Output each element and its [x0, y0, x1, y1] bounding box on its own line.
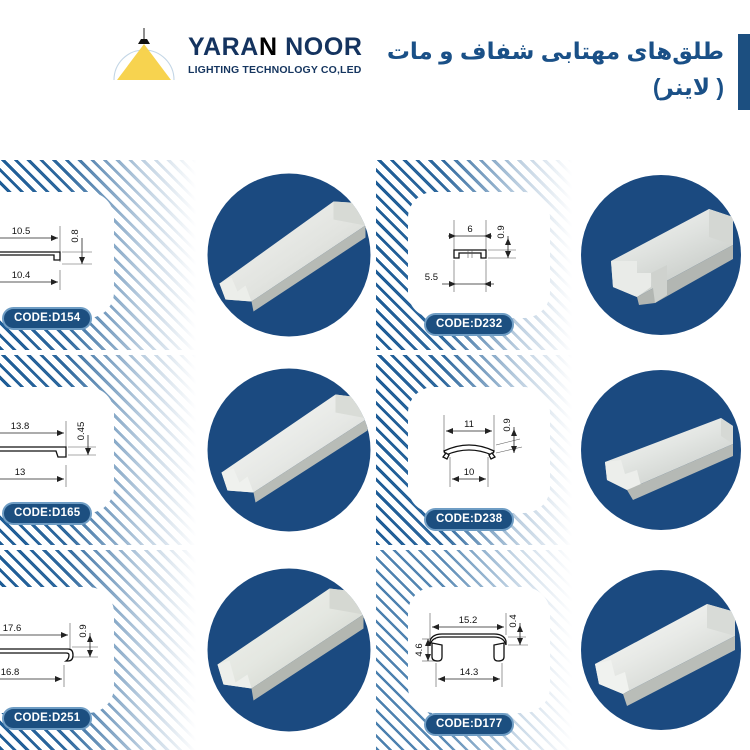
product-code-badge: CODE:D154	[2, 307, 92, 330]
product-code-badge: CODE:D238	[424, 508, 514, 531]
product-cell-d232[interactable]: 6 5.5 0.9 CODE:D232	[376, 160, 750, 350]
technical-drawing-card: 6 5.5 0.9	[408, 192, 550, 318]
product-photo-area	[196, 160, 374, 350]
dim-bottom-width: 10.4	[12, 270, 31, 281]
page-title-line1: طلق‌های مهتابی شفاف و مات	[387, 34, 724, 70]
product-grid: 10.5 10.4 0.8 CODE:D154	[0, 160, 750, 750]
product-code-badge: CODE:D177	[424, 713, 514, 736]
dim-bottom-width: 10	[464, 467, 475, 478]
page-header: YARAN NOOR LIGHTING TECHNOLOGY CO,LED طل…	[0, 0, 750, 160]
product-cell-d251[interactable]: 17.6 16.8 0.9 CODE:D251	[0, 550, 374, 750]
product-photo-circle	[207, 174, 370, 337]
dim-top-width: 17.6	[3, 623, 22, 634]
product-cell-d154[interactable]: 10.5 10.4 0.8 CODE:D154	[0, 160, 374, 350]
product-photo-circle	[207, 369, 370, 532]
dim-height: 0.9	[502, 418, 513, 431]
product-photo-area	[572, 160, 750, 350]
dim-height: 0.4	[508, 614, 519, 627]
dim-bottom-width: 16.8	[1, 667, 20, 678]
product-photo-circle	[581, 370, 741, 530]
product-code-badge: CODE:D232	[424, 313, 514, 336]
product-code-badge: CODE:D165	[2, 502, 92, 525]
dim-top-width: 15.2	[459, 615, 478, 626]
brand-name: YARAN NOOR	[188, 34, 363, 60]
product-photo-circle	[207, 569, 370, 732]
dim-bottom-width: 13	[15, 467, 26, 478]
product-photo-area	[196, 550, 374, 750]
pendant-lamp-icon	[108, 22, 180, 88]
page-title: طلق‌های مهتابی شفاف و مات ( لاینر)	[387, 34, 750, 110]
dim-bottom-width: 14.3	[460, 667, 479, 678]
product-photo-area	[572, 550, 750, 750]
technical-drawing-card: 17.6 16.8 0.9	[0, 587, 114, 713]
product-photo-circle	[581, 175, 741, 335]
dim-height: 0.8	[70, 229, 81, 242]
dim-height: 0.9	[78, 624, 89, 637]
dim-height: 0.9	[496, 225, 507, 238]
brand-logo: YARAN NOOR LIGHTING TECHNOLOGY CO,LED	[108, 22, 363, 88]
page-title-line2: ( لاینر)	[387, 70, 724, 106]
product-photo-area	[572, 355, 750, 545]
dim-top-width: 11	[464, 419, 474, 430]
dim-depth: 4.6	[414, 643, 425, 656]
product-cell-d165[interactable]: 13.8 13 0.45 CODE:D165	[0, 355, 374, 545]
product-cell-d177[interactable]: 15.2 14.3 0.4 4.6 COD	[376, 550, 750, 750]
dim-top-width: 10.5	[12, 226, 31, 237]
product-photo-area	[196, 355, 374, 545]
product-photo-circle	[581, 570, 741, 730]
brand-name-prefix: YARA	[188, 33, 259, 61]
product-code-badge: CODE:D251	[2, 707, 92, 730]
technical-drawing-card: 11 10 0.9	[408, 387, 550, 513]
dim-top-width: 6	[467, 224, 472, 235]
dim-height: 0.45	[76, 422, 87, 441]
dim-top-width: 13.8	[11, 421, 30, 432]
product-cell-d238[interactable]: 11 10 0.9 CODE:D238	[376, 355, 750, 545]
technical-drawing-card: 15.2 14.3 0.4 4.6	[408, 587, 550, 713]
brand-name-suffix: NOOR	[278, 33, 363, 61]
brand-tagline: LIGHTING TECHNOLOGY CO,LED	[188, 64, 363, 76]
dim-bottom-width: 5.5	[425, 272, 438, 283]
technical-drawing-card: 10.5 10.4 0.8	[0, 192, 114, 318]
brand-name-accent: N	[259, 33, 278, 61]
title-accent-bar	[738, 34, 750, 110]
technical-drawing-card: 13.8 13 0.45	[0, 387, 114, 513]
